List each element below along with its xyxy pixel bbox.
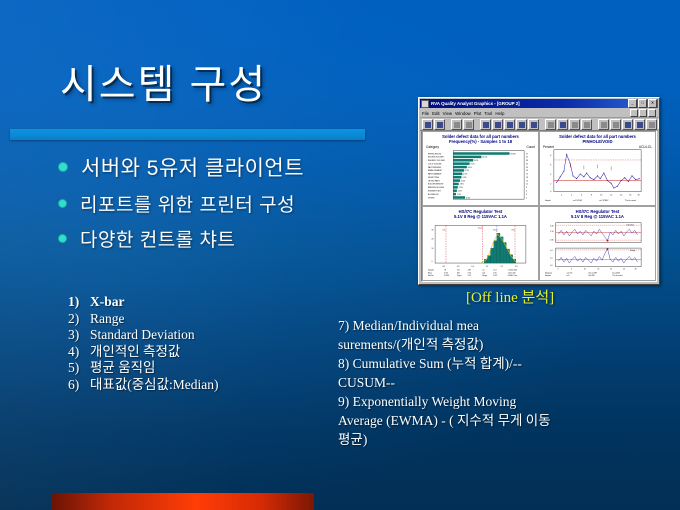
list-item: 1) X-bar (68, 294, 318, 311)
svg-text:Mean: Mean (493, 229, 498, 231)
svg-text:4: 4 (526, 194, 527, 196)
svg-text:Sample: Sample (545, 200, 551, 202)
paste-icon[interactable] (516, 119, 527, 130)
svg-text:Range: Range (630, 250, 635, 252)
control-chart-list-right: 7) Median/Individual mea surements/(개인적 … (338, 316, 553, 449)
mdi-restore-icon[interactable] (639, 109, 647, 117)
list-item: 리포트를 위한 프린터 구성 (58, 190, 478, 217)
chart-title-line2: 5.1V 8 Reg @ 115VAC 1.1A (424, 214, 537, 219)
list-item: 9) Exponentially Weight Moving Average (… (338, 392, 553, 449)
svg-text:1.146 5.0042: 1.146 5.0042 (508, 270, 518, 272)
bullet-dot-icon (58, 234, 67, 243)
svg-text:BLOWHOLE: BLOWHOLE (428, 194, 439, 196)
svg-text:30: 30 (431, 229, 433, 231)
svg-text:5.35: 5.35 (468, 272, 471, 274)
mdi-minimize-icon[interactable] (630, 109, 638, 117)
list-item-label: X-bar (90, 294, 125, 311)
chart-title-line2: Frequency(%) - Samples 1 to 18 (424, 139, 537, 144)
list-item-label: Standard Deviation (90, 327, 195, 344)
title-accent-bar (10, 129, 365, 140)
menu-item-view[interactable]: View (443, 111, 452, 116)
zoom-out-icon[interactable] (610, 119, 621, 130)
maximize-icon[interactable]: □ (638, 99, 647, 108)
svg-text:USL: USL (457, 272, 460, 274)
chart-panel-pareto[interactable]: Solder defect data for all part numbers … (422, 131, 539, 206)
svg-text:UCL=5.289: UCL=5.289 (588, 272, 596, 274)
list-item-index: 3) (68, 327, 90, 344)
svg-text:2: 2 (561, 195, 562, 197)
cut-icon[interactable] (492, 119, 503, 130)
svg-text:EXCESS SOLDER: EXCESS SOLDER (428, 157, 445, 159)
svg-text:Samples: Samples (545, 275, 551, 277)
scatter-icon[interactable] (658, 119, 660, 130)
svg-text:4.85: 4.85 (468, 270, 471, 272)
bullet-label: 서버와 5유저 클라이언트 (81, 152, 304, 182)
svg-text:0: 0 (550, 191, 551, 193)
close-icon[interactable]: ✕ (648, 99, 657, 108)
svg-text:n=2 STDEV: n=2 STDEV (599, 200, 609, 202)
svg-text:6: 6 (526, 190, 527, 192)
list-item: 5) 평균 움직임 (68, 360, 318, 377)
svg-text:3.4%: 3.4% (461, 180, 465, 182)
svg-text:5.10: 5.10 (550, 231, 553, 233)
chart-title: Solder defect data for all part numbers … (424, 133, 537, 144)
svg-text:18: 18 (444, 270, 446, 272)
svg-text:8: 8 (591, 195, 592, 197)
svg-text:*Out of control: *Out of control (625, 199, 637, 202)
svg-text:34: 34 (526, 163, 528, 165)
menu-item-window[interactable]: Window (455, 111, 471, 116)
svg-text:18: 18 (526, 177, 528, 179)
text-icon[interactable] (557, 119, 568, 130)
svg-text:12: 12 (526, 184, 528, 186)
svg-text:5.10: 5.10 (468, 275, 471, 277)
window-controls[interactable]: _ □ ✕ (628, 99, 657, 108)
svg-text:*Out of control: *Out of control (612, 274, 623, 277)
zoom-in-icon[interactable] (598, 119, 609, 130)
mdi-close-icon[interactable] (648, 109, 656, 117)
menu-item-file[interactable]: File (422, 111, 429, 116)
svg-text:8: 8 (550, 155, 551, 157)
menu-item-plot[interactable]: Plot (474, 111, 482, 116)
svg-text:4: 4 (571, 195, 572, 197)
svg-text:1.8%: 1.8% (458, 190, 462, 192)
list-item-index: 6) (68, 377, 90, 394)
svg-text:18: 18 (637, 195, 639, 197)
mdi-child-controls[interactable] (630, 109, 656, 117)
svg-text:COLD SOLDER: COLD SOLDER (428, 163, 442, 165)
pareto-icon[interactable] (622, 119, 633, 130)
svg-text:30: 30 (526, 167, 528, 169)
svg-text:0.0: 0.0 (550, 265, 552, 267)
decorative-red-bar (52, 493, 314, 510)
preview-icon[interactable] (480, 119, 491, 130)
svg-text:LCL=4.853: LCL=4.853 (612, 272, 620, 274)
svg-text:1.14: 1.14 (493, 270, 496, 272)
chart-title-line2: PINHOLE/VOID (541, 139, 654, 144)
svg-text:4: 4 (550, 174, 551, 176)
svg-text:0.2: 0.2 (550, 257, 552, 259)
svg-text:Range: Range (482, 275, 487, 277)
runchart-plot: Percent UCL/LCL (543, 145, 652, 203)
svg-text:MISSING SOLDER: MISSING SOLDER (428, 187, 445, 189)
svg-text:29.8%: 29.8% (510, 153, 515, 155)
svg-text:PART MISSING: PART MISSING (428, 166, 442, 169)
histogram-icon[interactable] (634, 119, 645, 130)
svg-text:14: 14 (620, 195, 622, 197)
svg-text:9.8%: 9.8% (474, 160, 478, 162)
control-chart-list-left: 1) X-bar 2) Range 3) Standard Deviation … (68, 294, 318, 393)
list-item: 3) Standard Deviation (68, 327, 318, 344)
svg-text:5: 5 (571, 269, 572, 271)
svg-text:22: 22 (526, 174, 528, 176)
embedded-app-window[interactable]: RVA Quality Analyst Graphics - [GROUP 2]… (418, 97, 660, 285)
chart-panel-histogram[interactable]: HS/I7C Regulator Test 5.1V 8 Reg @ 115VA… (422, 206, 539, 281)
bullet-dot-icon (58, 162, 68, 172)
svg-text:n=1 STDEV: n=1 STDEV (573, 200, 583, 202)
list-item: 4) 개인적인 측정값 (68, 344, 318, 361)
svg-text:8.1%: 8.1% (471, 163, 475, 165)
svg-text:1.3%: 1.3% (457, 194, 461, 196)
chart-panel-runchart[interactable]: Solder defect data for all part numbers … (539, 131, 656, 206)
svg-text:10: 10 (584, 269, 586, 271)
svg-text:5.0065 7.0ns: 5.0065 7.0ns (508, 275, 518, 277)
list-item: 6) 대표값(중심값:Median) (68, 377, 318, 394)
svg-text:5.30: 5.30 (550, 226, 553, 228)
save-icon[interactable] (451, 119, 462, 130)
svg-text:Cp: Cp (482, 270, 484, 272)
svg-text:6: 6 (550, 165, 551, 167)
svg-text:LSL: LSL (442, 229, 445, 231)
menu-bar[interactable]: File Edit View Window Plot Tool Help (420, 109, 658, 118)
svg-text:R=0.206: R=0.206 (588, 275, 594, 277)
svg-text:n=2: n=2 (567, 275, 570, 277)
svg-text:Subgroup: Subgroup (545, 271, 552, 274)
svg-text:1.00 1.006: 1.00 1.006 (508, 272, 516, 274)
svg-text:15: 15 (598, 269, 600, 271)
chart-title-line2: 5.1V 8 Reg @ 115VAC 1.1A (541, 214, 654, 219)
open-icon[interactable] (434, 119, 445, 130)
svg-text:5.071: 5.071 (444, 272, 448, 274)
grid-icon[interactable] (545, 119, 556, 130)
list-item-label: 평균 움직임 (90, 360, 155, 377)
svg-text:25: 25 (623, 269, 625, 271)
controlchart-series: 5.305.104.90 0.40.20.0 0510 152025 30 In… (543, 220, 652, 278)
chart-title: HS/I7C Regulator Test 5.1V 8 Reg @ 115VA… (424, 208, 537, 219)
list-item-label: 대표값(중심값:Median) (90, 377, 219, 394)
list-item-index: 4) (68, 344, 90, 361)
svg-text:4.8: 4.8 (442, 266, 444, 268)
svg-text:2.8%: 2.8% (460, 184, 464, 186)
svg-text:4.6%: 4.6% (463, 174, 467, 176)
bullet-label: 다양한 컨트롤 챠트 (80, 225, 235, 252)
svg-text:47: 47 (526, 153, 528, 155)
pareto-bars: PINHOLE/VOID EXCESS SOLDER INSUFFIC SOLD… (426, 145, 535, 203)
list-item: 다양한 컨트롤 챠트 (58, 225, 478, 252)
svg-text:4.9: 4.9 (457, 266, 459, 268)
list-item-index: 5) (68, 360, 90, 377)
svg-text:4.90: 4.90 (550, 240, 553, 242)
slide-canvas: 시스템 구성 서버와 5유저 클라이언트 리포트를 위한 프린터 구성 다양한 … (0, 0, 680, 510)
svg-text:MISALIGNMENT: MISALIGNMENT (428, 169, 443, 172)
svg-text:2: 2 (550, 183, 551, 185)
svg-text:10: 10 (431, 248, 433, 250)
svg-text:0.4: 0.4 (550, 250, 552, 252)
svg-text:SOLDER BRIDGE: SOLDER BRIDGE (428, 184, 444, 186)
menu-item-help[interactable]: Help (495, 111, 504, 116)
svg-text:LIFTED PART: LIFTED PART (428, 179, 441, 182)
svg-text:Samples: Samples (428, 270, 434, 272)
svg-text:PINHOLE/VOID: PINHOLE/VOID (428, 153, 442, 155)
svg-text:5.0: 5.0 (471, 266, 473, 268)
new-icon[interactable] (422, 119, 433, 130)
svg-text:Target: Target (478, 226, 483, 229)
svg-text:5.2: 5.2 (500, 266, 502, 268)
runchart-series: 86 420 246 81012 141618 Samplen=1 STDEV … (543, 145, 652, 203)
list-item-label: 개인적인 측정값 (90, 344, 180, 361)
svg-text:6.3%: 6.3% (466, 197, 470, 199)
svg-text:PART DAMAGE: PART DAMAGE (428, 173, 442, 176)
svg-text:5.3: 5.3 (515, 266, 517, 268)
svg-text:10: 10 (600, 195, 602, 197)
svg-text:5.1: 5.1 (486, 266, 488, 268)
svg-text:14.2%: 14.2% (482, 157, 487, 159)
svg-text:Individual: Individual (627, 225, 635, 227)
pareto-plot: Category Count (426, 145, 535, 203)
chart-title: HS/I7C Regulator Test 5.1V 8 Reg @ 115VA… (541, 208, 654, 219)
copy-icon[interactable] (504, 119, 515, 130)
svg-text:15: 15 (526, 180, 528, 182)
list-item-index: 1) (68, 294, 90, 311)
color-icon[interactable] (581, 119, 592, 130)
chart-title: Solder defect data for all part numbers … (541, 133, 654, 144)
svg-text:12: 12 (610, 195, 612, 197)
list-item: 8) Cumulative Sum (누적 합계)/-- CUSUM-- (338, 354, 553, 392)
list-item: 2) Range (68, 311, 318, 328)
list-item-label: Range (90, 311, 125, 328)
svg-text:Std Dev: Std Dev (428, 274, 434, 277)
svg-text:NONWETTING: NONWETTING (428, 190, 441, 192)
svg-text:DEWETTING: DEWETTING (428, 177, 440, 179)
mdi-client-area: Solder defect data for all part numbers … (421, 130, 657, 282)
line-icon[interactable] (569, 119, 580, 130)
svg-text:LSL: LSL (457, 270, 460, 272)
svg-text:Mean: Mean (428, 272, 432, 274)
chart-panel-controlchart[interactable]: HS/I7C Regulator Test 5.1V 8 Reg @ 115VA… (539, 206, 656, 281)
histogram-plot: LSLTargetUSL Mean 3020 100 4.84.95.0 5.1… (426, 220, 535, 278)
svg-text:30: 30 (635, 269, 637, 271)
svg-text:OTHER: OTHER (428, 197, 435, 199)
bullet-label: 리포트를 위한 프린터 구성 (80, 190, 295, 217)
svg-text:6.4%: 6.4% (468, 167, 472, 169)
svg-text:INSUFFIC SOLDER: INSUFFIC SOLDER (428, 160, 446, 162)
window-titlebar[interactable]: RVA Quality Analyst Graphics - [GROUP 2]… (420, 99, 658, 108)
bullet-list: 서버와 5유저 클라이언트 리포트를 위한 프린터 구성 다양한 컨트롤 챠트 (58, 152, 478, 260)
page-title: 시스템 구성 (60, 52, 267, 110)
svg-text:0: 0 (558, 269, 559, 271)
svg-text:Cpk: Cpk (482, 272, 485, 274)
svg-text:USL: USL (511, 229, 515, 231)
svg-text:0.0734: 0.0734 (444, 275, 449, 277)
svg-text:2.3%: 2.3% (459, 187, 463, 189)
bullet-dot-icon (58, 199, 67, 208)
svg-text:16: 16 (629, 195, 631, 197)
list-item-index: 2) (68, 311, 90, 328)
svg-text:0: 0 (431, 261, 432, 263)
svg-text:x=5.071: x=5.071 (567, 272, 573, 274)
svg-text:42: 42 (526, 157, 528, 159)
svg-text:5.2%: 5.2% (465, 170, 469, 172)
svg-text:Target: Target (457, 274, 462, 277)
svg-text:0.372: 0.372 (493, 275, 497, 277)
svg-text:4.0%: 4.0% (462, 177, 466, 179)
chart-icon[interactable] (528, 119, 539, 130)
print-icon[interactable] (463, 119, 474, 130)
minimize-icon[interactable]: _ (628, 99, 637, 108)
control-chart-icon[interactable] (646, 119, 657, 130)
svg-text:26: 26 (526, 170, 528, 172)
svg-text:20: 20 (610, 269, 612, 271)
app-icon (421, 100, 429, 108)
window-title: RVA Quality Analyst Graphics - [GROUP 2] (431, 101, 628, 106)
svg-text:2: 2 (526, 197, 527, 199)
list-item: 서버와 5유저 클라이언트 (58, 152, 478, 182)
menu-item-tool[interactable]: Tool (484, 111, 492, 116)
svg-text:9: 9 (526, 187, 527, 189)
menu-item-edit[interactable]: Edit (432, 111, 440, 116)
offline-analysis-caption: [Off line 분석] (466, 286, 554, 307)
controlchart-plot: 5.305.104.90 0.40.20.0 0510 152025 30 In… (543, 220, 652, 278)
svg-text:6: 6 (581, 195, 582, 197)
list-item: 7) Median/Individual mea surements/(개인적 … (338, 316, 553, 354)
histogram-bars: LSLTargetUSL Mean 3020 100 4.84.95.0 5.1… (426, 220, 535, 278)
svg-text:38: 38 (526, 160, 528, 162)
svg-text:1.08: 1.08 (493, 272, 496, 274)
svg-text:20: 20 (431, 239, 433, 241)
